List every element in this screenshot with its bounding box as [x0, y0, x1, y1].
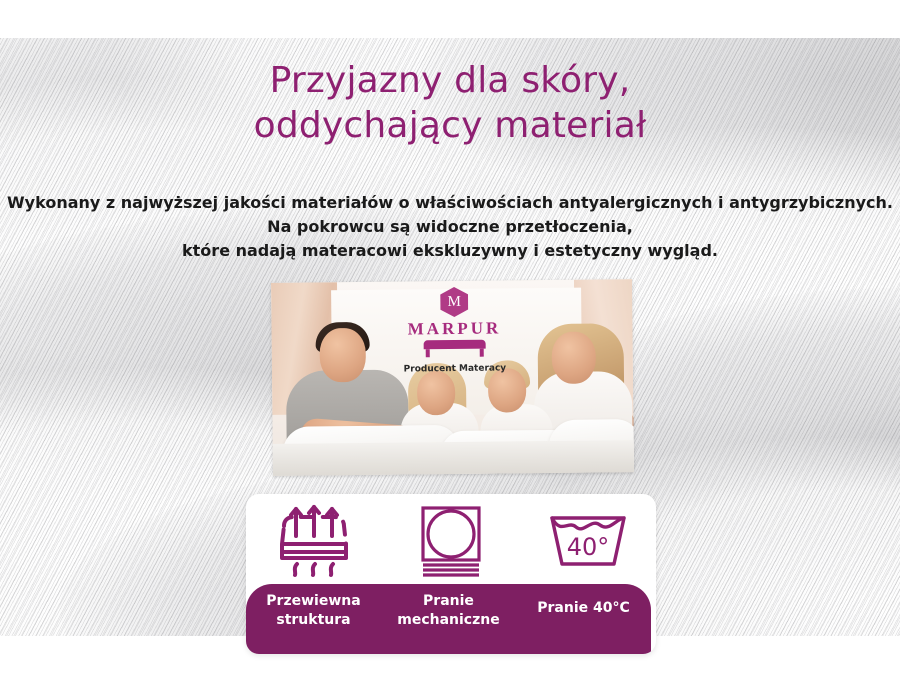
features-card: 40° Przewiewna struktura Pranie mechanic… — [246, 494, 656, 654]
feature-icon-cell-wash-temperature: 40° — [519, 494, 656, 586]
photo-person-father-head — [319, 328, 366, 382]
page-title-line-2: oddychający materiał — [0, 103, 900, 148]
feature-label-washing-machine-line-1: Pranie — [397, 592, 499, 611]
wash-temperature-label: 40° — [566, 533, 609, 561]
description-text: Wykonany z najwyższej jakości materiałów… — [0, 191, 900, 263]
logo-monogram: M — [447, 294, 461, 309]
logo-hexagon-icon: M — [440, 287, 468, 317]
washing-machine-icon — [412, 502, 490, 578]
photo-person-boy-head — [488, 368, 526, 412]
feature-label-breathable-line-2: struktura — [266, 611, 360, 630]
feature-label-washing-machine-line-2: mechaniczne — [397, 611, 499, 630]
breathable-structure-icon — [268, 502, 360, 578]
photo-mattress — [271, 440, 634, 476]
feature-icon-cell-breathable — [246, 494, 383, 586]
feature-icon-cell-washing-machine — [383, 494, 520, 586]
wash-temperature-icon: 40° — [542, 509, 634, 571]
family-lifestyle-photo: M MARPUR Producent Materacy — [271, 279, 634, 476]
page-title: Przyjazny dla skóry, oddychający materia… — [0, 58, 900, 148]
feature-label-wash-temperature: Pranie 40°C — [516, 584, 651, 654]
feature-label-wash-temperature-line-1: Pranie 40°C — [537, 599, 630, 618]
product-info-slide: Przyjazny dla skóry, oddychający materia… — [0, 0, 900, 675]
photo-person-girl-head — [417, 371, 455, 415]
features-label-bar: Przewiewna struktura Pranie mechaniczne … — [246, 584, 651, 654]
marpur-logo: M MARPUR Producent Materacy — [389, 286, 520, 374]
description-line-3: które nadają materacowi ekskluzywny i es… — [0, 239, 900, 263]
photo-person-mother-head — [552, 331, 597, 383]
feature-label-breathable-line-1: Przewiewna — [266, 592, 360, 611]
features-icon-row: 40° — [246, 494, 656, 586]
feature-label-breathable: Przewiewna struktura — [246, 584, 381, 654]
logo-bed-icon — [424, 340, 486, 358]
description-line-2: Na pokrowcu są widoczne przetłoczenia, — [0, 215, 900, 239]
logo-tagline: Producent Materacy — [390, 363, 520, 374]
feature-label-washing-machine: Pranie mechaniczne — [381, 584, 516, 654]
page-title-line-1: Przyjazny dla skóry, — [270, 60, 631, 101]
logo-brand-name: MARPUR — [389, 318, 519, 339]
description-line-1: Wykonany z najwyższej jakości materiałów… — [0, 191, 900, 215]
